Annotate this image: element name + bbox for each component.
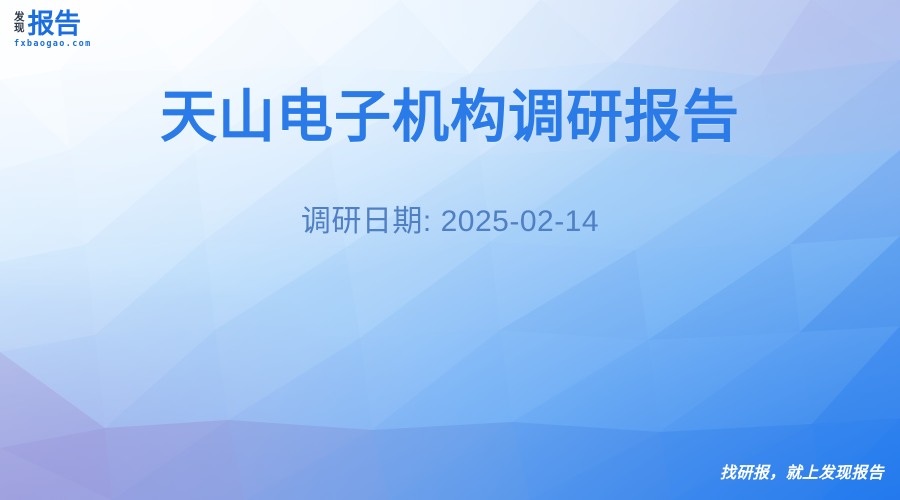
footer-slogan: 找研报，就上发现报告 <box>720 464 884 484</box>
logo-domain-text: fxbaogao.com <box>14 39 118 49</box>
fxbaogao-logo[interactable]: 发 现 报告 fxbaogao.com <box>14 11 118 49</box>
cover-subtitle-date: 调研日期: 2025-02-14 <box>0 203 900 241</box>
page-title: 天山电子机构调研报告 <box>0 84 900 150</box>
cover-title-block: 天山电子机构调研报告 调研日期: 2025-02-14 <box>0 84 900 241</box>
logo-char-xian: 现 <box>14 23 25 34</box>
low-poly-background <box>0 0 900 500</box>
logo-mark: 发 现 报告 <box>14 11 118 38</box>
logo-wordmark: 报告 <box>28 11 81 38</box>
logo-stacked-characters: 发 现 <box>14 11 25 34</box>
report-cover-slide: 发 现 报告 fxbaogao.com 天山电子机构调研报告 调研日期: 202… <box>0 0 900 500</box>
